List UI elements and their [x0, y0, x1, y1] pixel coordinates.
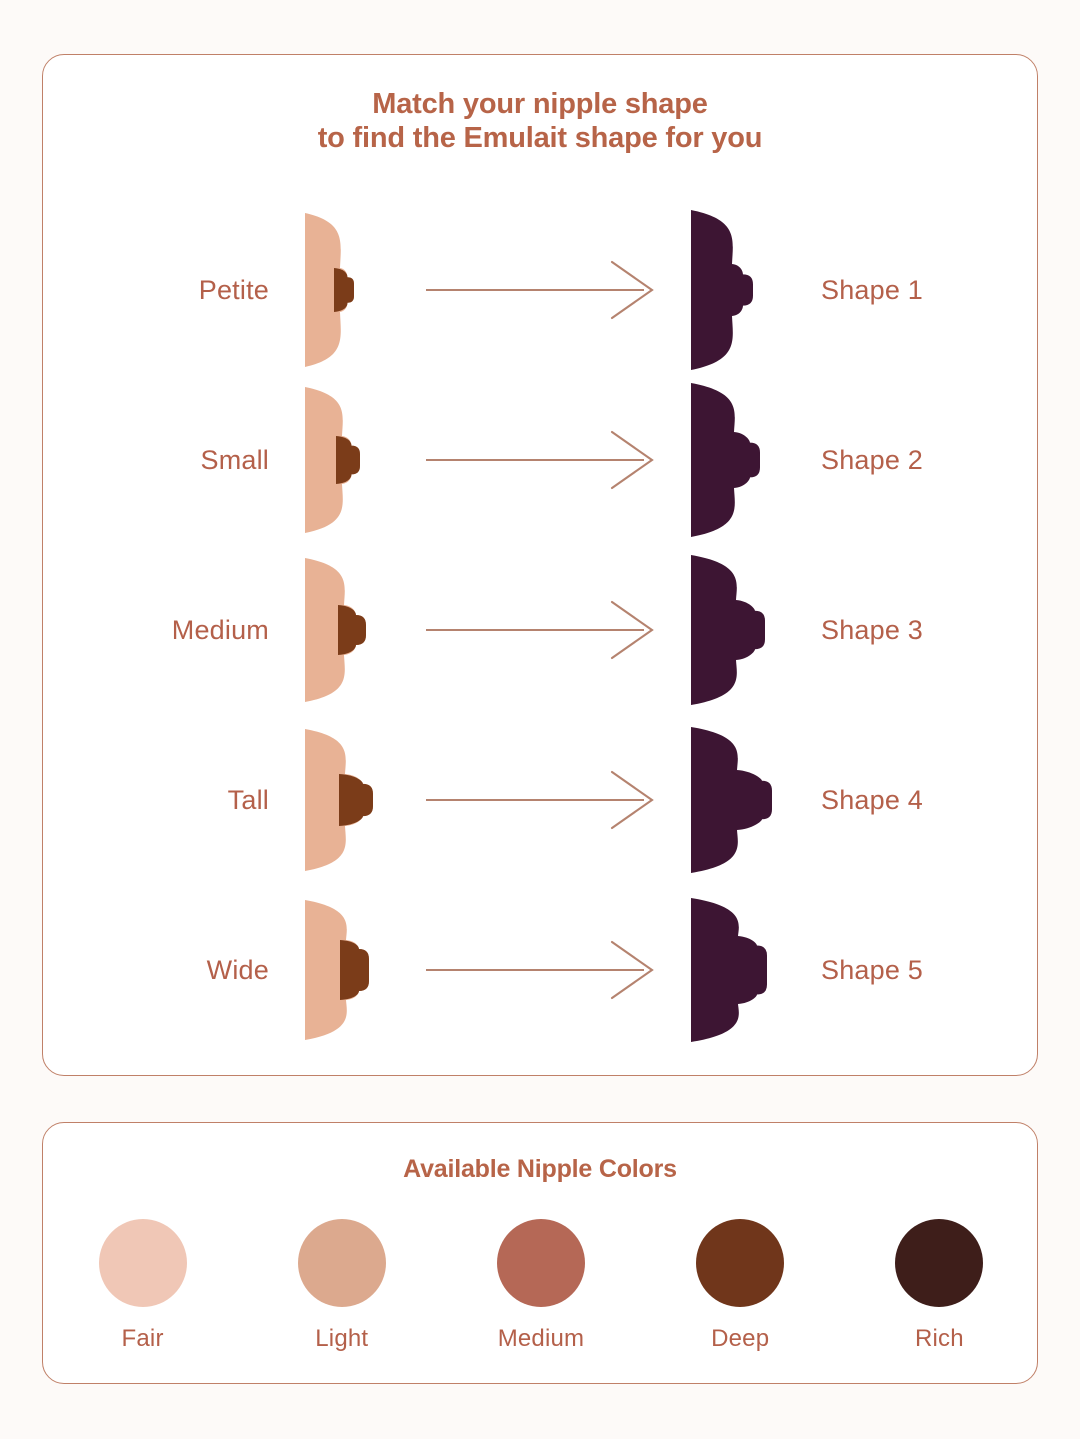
breast-shape-cell: [291, 205, 401, 375]
shape-card-title-line-2: to find the Emulait shape for you: [113, 121, 968, 155]
arrow-cell: [401, 940, 679, 1000]
teat-shape-cell: [679, 545, 789, 715]
shape-row-list: Petite Shape 1 Small: [43, 205, 1039, 1055]
breast-shape-cell: [291, 885, 401, 1055]
nipple-size-label-tall: Tall: [43, 785, 291, 816]
nipple-size-label-medium: Medium: [43, 615, 291, 646]
bottle-teat-silhouette-wide: [679, 885, 789, 1055]
shape-match-row: Tall Shape 4: [43, 715, 1039, 885]
color-card-title: Available Nipple Colors: [43, 1155, 1037, 1185]
product-shape-label-5: Shape 5: [789, 955, 1039, 986]
color-swatch-list: Fair Light Medium Deep Rich: [43, 1219, 1039, 1353]
arrow-cell: [401, 770, 679, 830]
color-swatch-dot-medium[interactable]: [497, 1219, 585, 1307]
color-swatch-dot-deep[interactable]: [696, 1219, 784, 1307]
available-colors-card: Available Nipple Colors Fair Light Mediu…: [42, 1122, 1038, 1384]
color-swatch-item[interactable]: Rich: [864, 1219, 1014, 1353]
breast-silhouette-petite: [291, 205, 401, 375]
bottle-teat-silhouette-petite: [679, 205, 789, 375]
shape-match-card: Match your nipple shape to find the Emul…: [42, 54, 1038, 1076]
product-shape-label-1: Shape 1: [789, 275, 1039, 306]
color-swatch-label-deep: Deep: [711, 1325, 769, 1353]
color-swatch-item[interactable]: Medium: [466, 1219, 616, 1353]
breast-shape-cell: [291, 375, 401, 545]
color-swatch-label-rich: Rich: [915, 1325, 964, 1353]
teat-shape-cell: [679, 375, 789, 545]
color-swatch-item[interactable]: Deep: [665, 1219, 815, 1353]
bottle-teat-silhouette-tall: [679, 715, 789, 885]
product-shape-label-3: Shape 3: [789, 615, 1039, 646]
match-arrow-icon: [420, 770, 660, 830]
arrow-cell: [401, 260, 679, 320]
match-arrow-icon: [420, 940, 660, 1000]
breast-silhouette-medium: [291, 545, 401, 715]
color-swatch-dot-rich[interactable]: [895, 1219, 983, 1307]
match-arrow-icon: [420, 260, 660, 320]
color-swatch-dot-fair[interactable]: [99, 1219, 187, 1307]
bottle-teat-silhouette-medium: [679, 545, 789, 715]
color-swatch-dot-light[interactable]: [298, 1219, 386, 1307]
teat-shape-cell: [679, 205, 789, 375]
breast-shape-cell: [291, 715, 401, 885]
nipple-size-label-petite: Petite: [43, 275, 291, 306]
product-shape-label-4: Shape 4: [789, 785, 1039, 816]
nipple-size-label-wide: Wide: [43, 955, 291, 986]
shape-match-row: Petite Shape 1: [43, 205, 1039, 375]
color-swatch-item[interactable]: Light: [267, 1219, 417, 1353]
shape-match-row: Medium Shape 3: [43, 545, 1039, 715]
teat-shape-cell: [679, 715, 789, 885]
product-shape-label-2: Shape 2: [789, 445, 1039, 476]
color-swatch-label-light: Light: [315, 1325, 368, 1353]
color-swatch-label-fair: Fair: [122, 1325, 164, 1353]
match-arrow-icon: [420, 430, 660, 490]
arrow-cell: [401, 600, 679, 660]
color-swatch-item[interactable]: Fair: [68, 1219, 218, 1353]
color-swatch-label-medium: Medium: [498, 1325, 585, 1353]
shape-match-row: Small Shape 2: [43, 375, 1039, 545]
breast-silhouette-wide: [291, 885, 401, 1055]
breast-silhouette-small: [291, 375, 401, 545]
guide-page: Match your nipple shape to find the Emul…: [0, 0, 1080, 1439]
shape-card-title-line-1: Match your nipple shape: [113, 87, 968, 121]
teat-shape-cell: [679, 885, 789, 1055]
shape-card-title: Match your nipple shape to find the Emul…: [113, 87, 968, 155]
shape-match-row: Wide Shape 5: [43, 885, 1039, 1055]
nipple-size-label-small: Small: [43, 445, 291, 476]
match-arrow-icon: [420, 600, 660, 660]
breast-silhouette-tall: [291, 715, 401, 885]
bottle-teat-silhouette-small: [679, 375, 789, 545]
arrow-cell: [401, 430, 679, 490]
breast-shape-cell: [291, 545, 401, 715]
